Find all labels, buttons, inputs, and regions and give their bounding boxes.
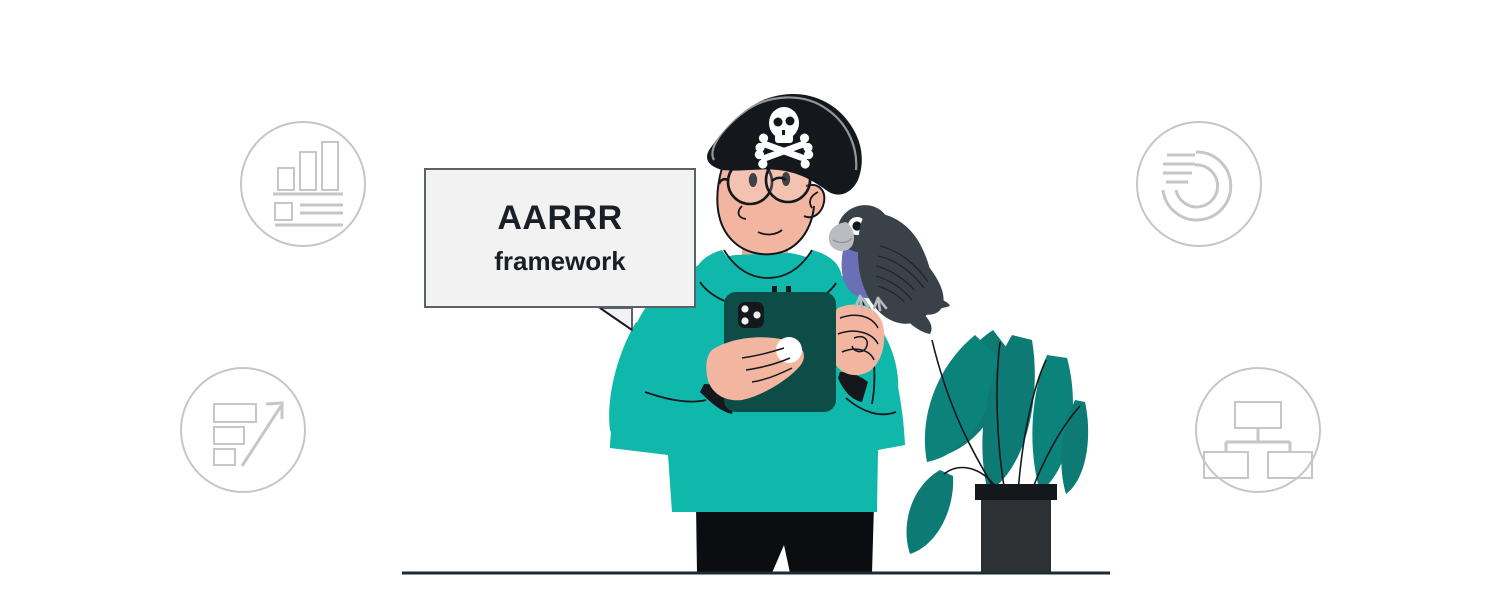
illustration-canvas: AARRR framework	[0, 0, 1500, 615]
character-pants	[696, 505, 874, 573]
hierarchy-org-chart-icon	[1196, 368, 1320, 492]
plant-pot	[981, 500, 1051, 573]
funnel-growth-arrow-icon	[181, 368, 305, 492]
speech-bubble-line-1: AARRR	[497, 200, 622, 237]
speech-bubble-line-2: framework	[494, 247, 626, 276]
plant-soil	[975, 484, 1057, 500]
donut-chart-icon	[1137, 122, 1261, 246]
speech-bubble-tail	[600, 308, 632, 330]
potted-plant	[907, 330, 1089, 573]
illustration-layer	[0, 0, 1500, 615]
character-pirate	[609, 94, 905, 573]
speech-bubble: AARRR framework	[424, 168, 696, 308]
bar-chart-report-icon	[241, 122, 365, 246]
parrot-beak	[829, 222, 854, 251]
